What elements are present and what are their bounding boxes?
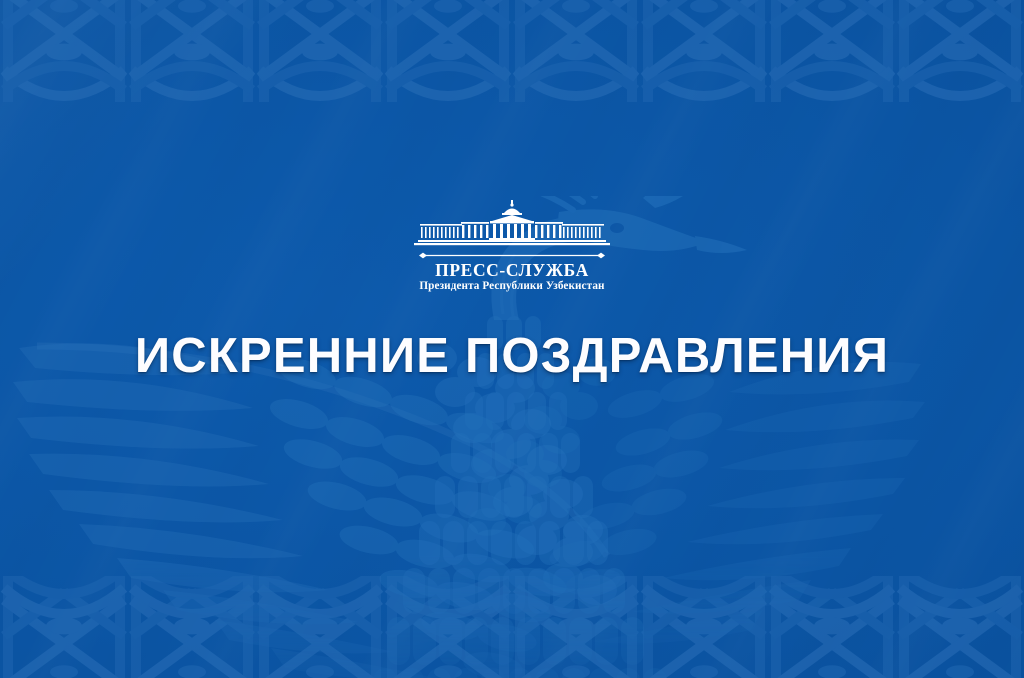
banner-canvas: ПРЕСС-СЛУЖБА Президента Республики Узбек… [0,0,1024,678]
logo-divider-rule [413,251,611,260]
logo-subtitle: Президента Республики Узбекистан [407,280,617,293]
logo-title: ПРЕСС-СЛУЖБА [407,261,617,279]
presidential-palace-building-icon [414,200,610,248]
page-title: ИСКРЕННИЕ ПОЗДРАВЛЕНИЯ [0,332,1024,381]
press-service-logo: ПРЕСС-СЛУЖБА Президента Республики Узбек… [407,200,617,294]
